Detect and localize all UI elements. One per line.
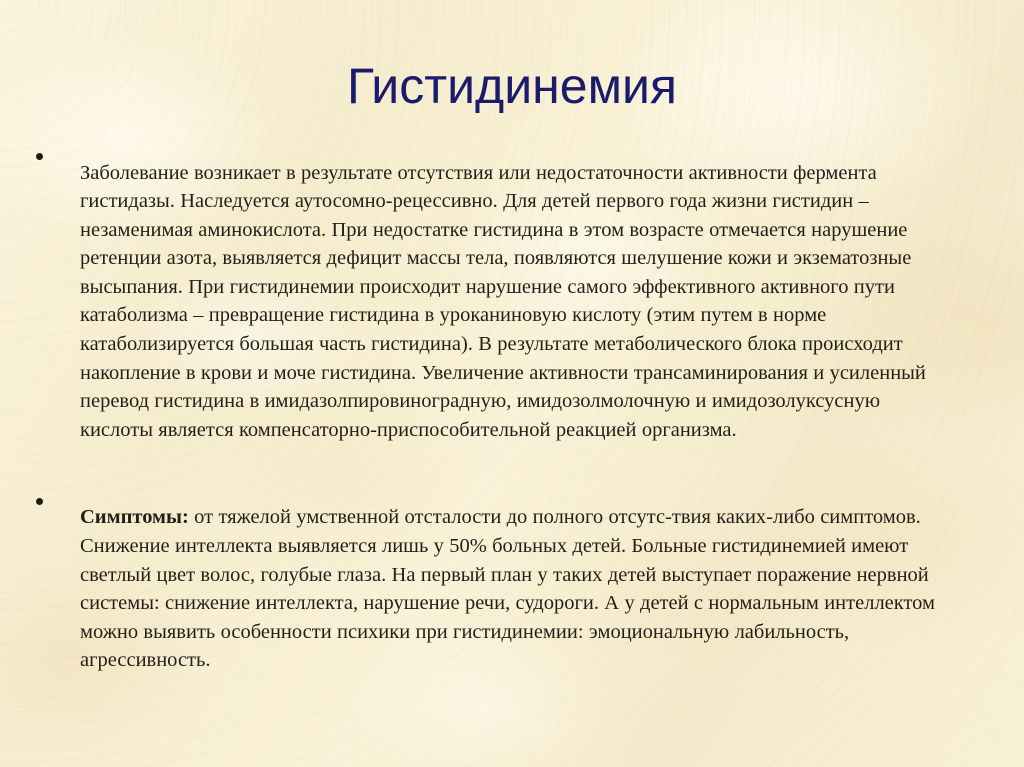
bullet-description-body: Заболевание возникает в результате отсут… (80, 162, 926, 441)
bullet-symptoms-text: Симптомы: от тяжелой умственной отсталос… (80, 503, 948, 675)
symptoms-label: Симптомы: (80, 506, 189, 528)
list-item: Симптомы: от тяжелой умственной отсталос… (36, 483, 948, 696)
bullet-dot-icon (36, 498, 43, 505)
bullet-dot-icon (36, 153, 43, 160)
bullet-description-text: Заболевание возникает в результате отсут… (80, 159, 948, 445)
bullet-symptoms-body: от тяжелой умственной отсталости до полн… (80, 506, 935, 671)
bullet-marker (36, 483, 80, 510)
bullet-marker (36, 138, 80, 165)
page-title: Гистидинемия (347, 58, 677, 114)
list-item: Заболевание возникает в результате отсут… (36, 138, 948, 465)
slide-title-container: Гистидинемия (0, 24, 1024, 147)
presentation-slide: Гистидинемия Заболевание возникает в рез… (0, 0, 1024, 767)
slide-body: Заболевание возникает в результате отсут… (36, 138, 948, 696)
